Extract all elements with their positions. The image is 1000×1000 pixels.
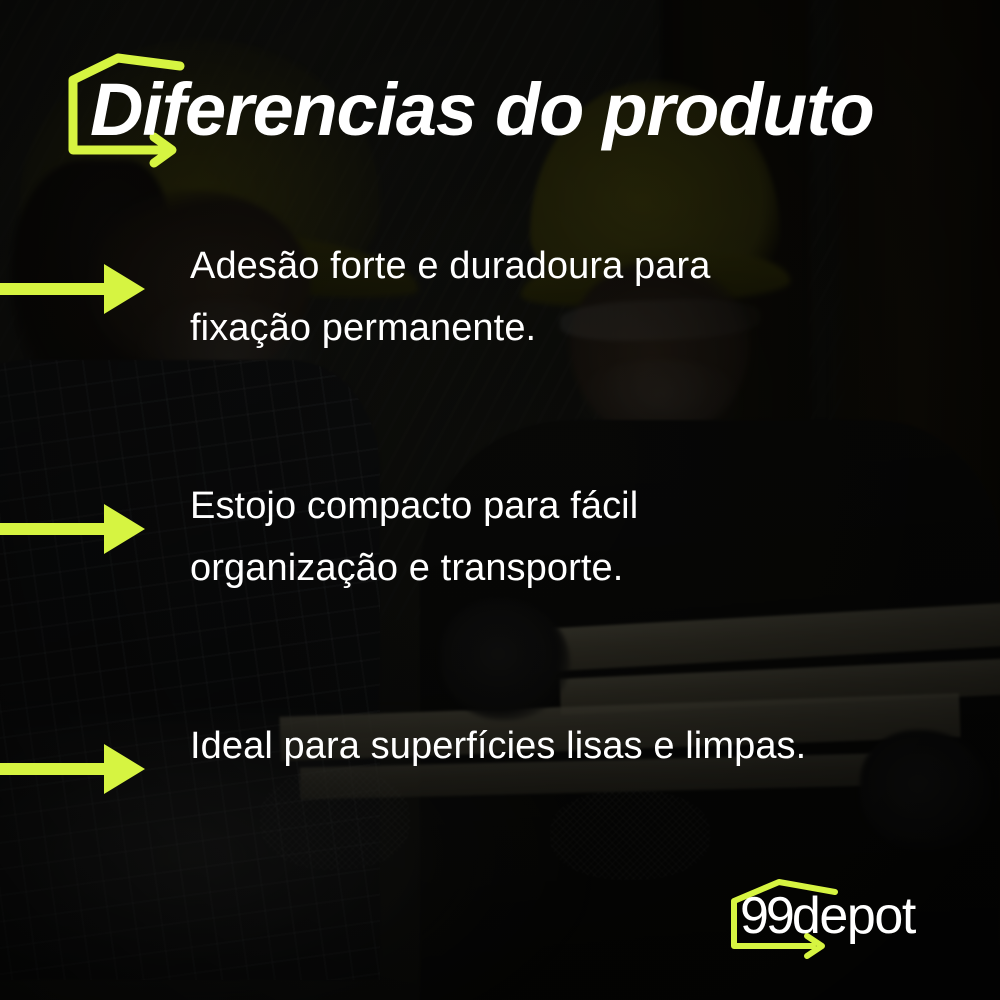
arrow-right-icon <box>0 738 150 800</box>
brand-logo-word: depot <box>792 887 915 945</box>
page-title-row: Diferencias do produto <box>62 54 942 166</box>
list-item-label: Estojo compacto para fácil organização e… <box>190 476 830 599</box>
page-title: Diferencias do produto <box>90 73 874 147</box>
arrow-right-icon <box>0 498 150 560</box>
list-item: Estojo compacto para fácil organização e… <box>0 476 1000 716</box>
bullet-list: Adesão forte e duradoura para fixação pe… <box>0 236 1000 956</box>
list-item-label: Adesão forte e duradoura para fixação pe… <box>190 236 830 359</box>
arrow-right-icon <box>0 258 150 320</box>
promo-card: Diferencias do produto Adesão forte e du… <box>0 0 1000 1000</box>
card-content: Diferencias do produto Adesão forte e du… <box>0 0 1000 1000</box>
list-item-label: Ideal para superfícies lisas e limpas. <box>190 716 830 778</box>
brand-logo-text: 99depot <box>740 890 915 942</box>
brand-logo-digits: 99 <box>740 887 792 945</box>
list-item: Adesão forte e duradoura para fixação pe… <box>0 236 1000 476</box>
brand-logo[interactable]: 99depot <box>727 878 942 956</box>
